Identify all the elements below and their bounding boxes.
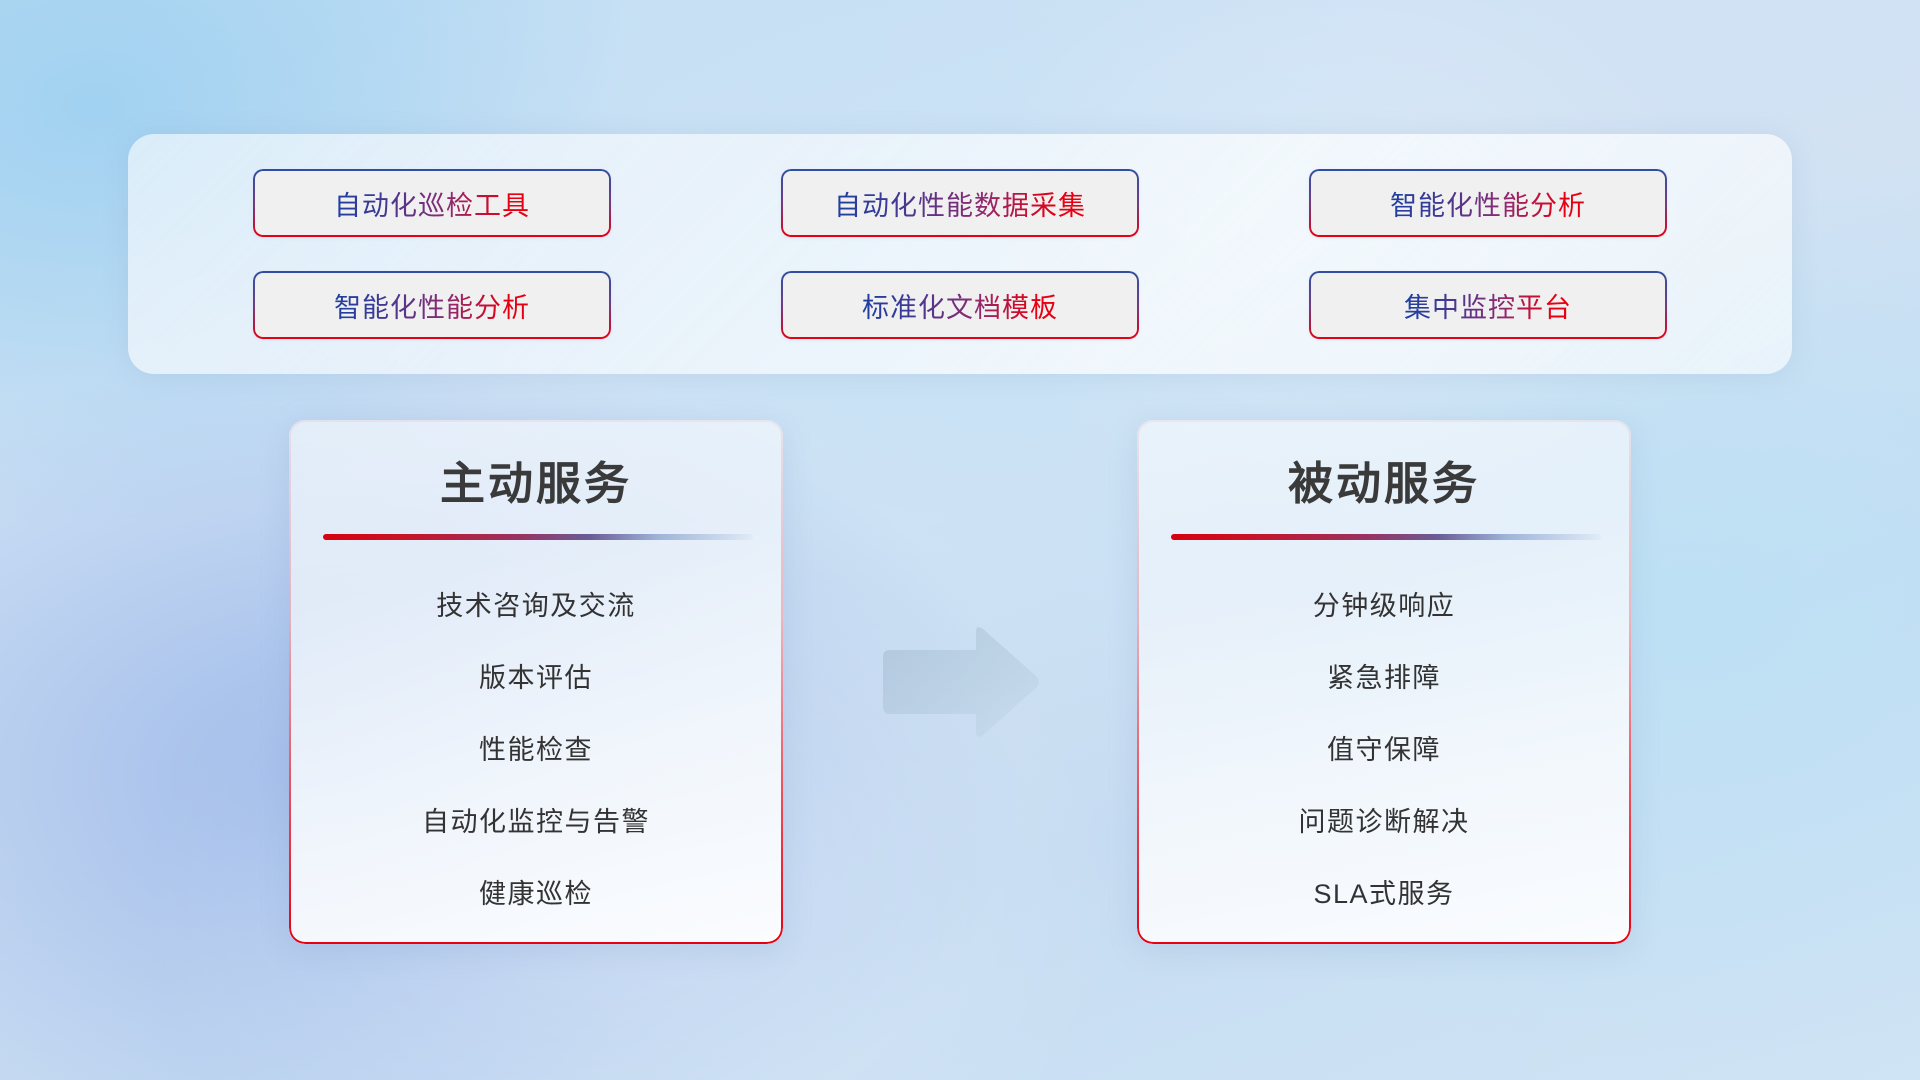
capability-chip-2[interactable]: 自动化性能数据采集: [781, 169, 1139, 237]
flow-arrow-container: [783, 420, 1137, 944]
list-item[interactable]: 技术咨询及交流: [323, 570, 749, 642]
capability-panel: 自动化巡检工具 自动化性能数据采集 智能化性能分析 智能化性能分析 标准化文档模…: [128, 134, 1792, 374]
capability-chip-label: 标准化文档模板: [862, 286, 1058, 325]
capability-chip-label: 智能化性能分析: [1390, 184, 1586, 223]
list-item[interactable]: 性能检查: [323, 714, 749, 786]
service-card-reactive[interactable]: 被动服务 分钟级响应 紧急排障 值守保障 问题诊断解决 SLA式服务: [1137, 420, 1631, 944]
capability-chip-label: 智能化性能分析: [334, 286, 530, 325]
list-item[interactable]: 版本评估: [323, 642, 749, 714]
arrow-right-icon: [877, 623, 1043, 741]
service-cards-row: 主动服务 技术咨询及交流 版本评估 性能检查 自动化监控与告警 健康巡检 被动服…: [0, 420, 1920, 944]
list-item[interactable]: SLA式服务: [1171, 858, 1597, 930]
list-item[interactable]: 紧急排障: [1171, 642, 1597, 714]
card-item-list: 分钟级响应 紧急排障 值守保障 问题诊断解决 SLA式服务: [1171, 570, 1597, 930]
card-divider: [323, 534, 753, 540]
capability-chip-4[interactable]: 智能化性能分析: [253, 271, 611, 339]
capability-chip-6[interactable]: 集中监控平台: [1309, 271, 1667, 339]
capability-chip-1[interactable]: 自动化巡检工具: [253, 169, 611, 237]
capability-chip-label: 自动化性能数据采集: [834, 184, 1086, 223]
card-title: 被动服务: [1171, 456, 1597, 512]
list-item[interactable]: 健康巡检: [323, 858, 749, 930]
card-title: 主动服务: [323, 456, 749, 512]
capability-chip-5[interactable]: 标准化文档模板: [781, 271, 1139, 339]
card-divider: [1171, 534, 1601, 540]
service-card-proactive[interactable]: 主动服务 技术咨询及交流 版本评估 性能检查 自动化监控与告警 健康巡检: [289, 420, 783, 944]
list-item[interactable]: 分钟级响应: [1171, 570, 1597, 642]
slide-root: { "top_panel": { "chips": [ { "label": "…: [0, 0, 1920, 1080]
list-item[interactable]: 值守保障: [1171, 714, 1597, 786]
list-item[interactable]: 自动化监控与告警: [323, 786, 749, 858]
card-item-list: 技术咨询及交流 版本评估 性能检查 自动化监控与告警 健康巡检: [323, 570, 749, 930]
capability-chip-3[interactable]: 智能化性能分析: [1309, 169, 1667, 237]
capability-chip-label: 自动化巡检工具: [334, 184, 530, 223]
capability-chip-label: 集中监控平台: [1404, 286, 1572, 325]
list-item[interactable]: 问题诊断解决: [1171, 786, 1597, 858]
